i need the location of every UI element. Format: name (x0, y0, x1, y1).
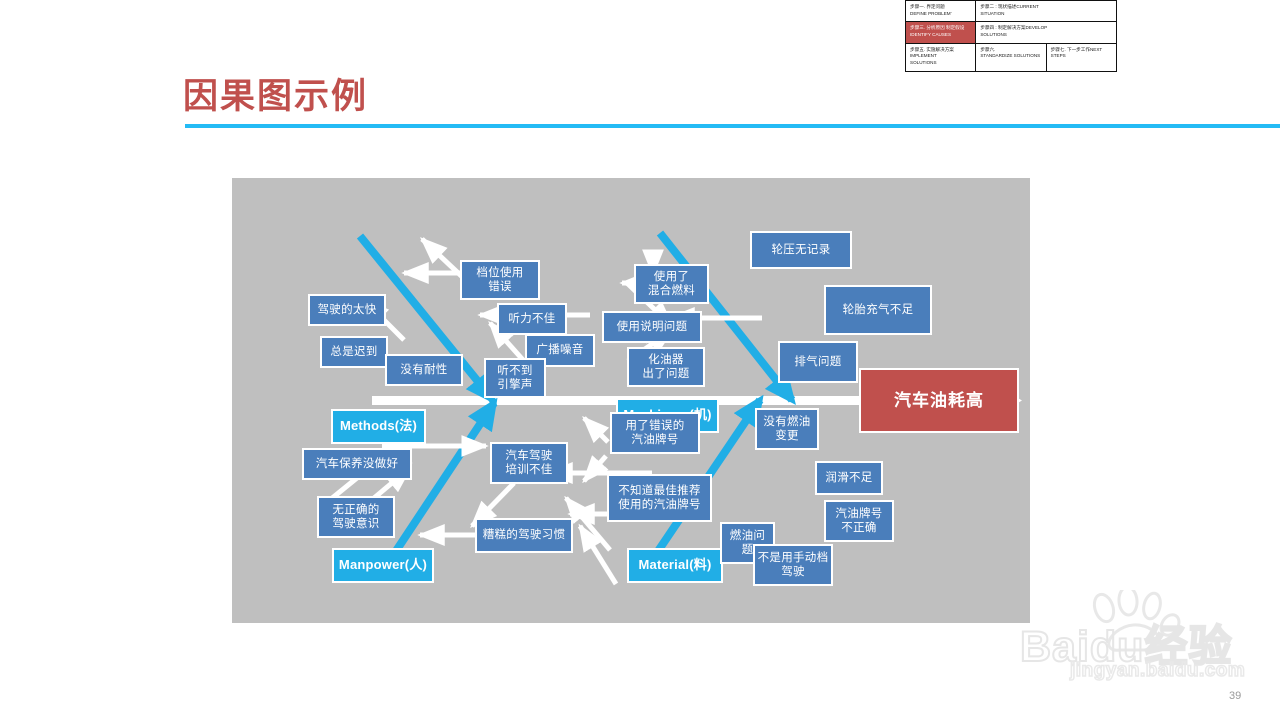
cause-manual-issue[interactable]: 使用说明问题 (602, 311, 702, 343)
cause-exhaust-issue[interactable]: 排气问题 (778, 341, 858, 383)
category-manpower[interactable]: Manpower(人) (332, 548, 434, 583)
step-cell-identify-causes[interactable]: 步骤三. 分析原因 制定假设 IDENTIFY CAUSES (906, 22, 976, 43)
step-cell-cn: 步骤三. 分析原因 制定假设 (910, 25, 972, 32)
step-cell-current-situation[interactable]: 步骤二 : 现状描述CURRENT SITUATION (976, 1, 1117, 22)
cause-mixed-fuel[interactable]: 使用了混合燃料 (634, 264, 709, 304)
step-cell-en: SITUATION (980, 11, 1113, 18)
cause-hearing-poor[interactable]: 听力不佳 (497, 303, 567, 335)
cause-tire-underinflated[interactable]: 轮胎充气不足 (824, 285, 932, 335)
fishbone-diagram-panel: Methods(法) Machinery(机) Manpower(人) Mate… (232, 178, 1030, 623)
cause-insufficient-lubrication[interactable]: 润滑不足 (815, 461, 883, 495)
title-divider (185, 124, 1280, 128)
category-material[interactable]: Material(料) (627, 548, 723, 583)
page-number: 39 (1229, 690, 1241, 702)
step-cell-define-problem[interactable]: 步骤一. 界定问题 DEFINE PROBLEM' (906, 1, 976, 22)
cause-no-tire-pressure-record[interactable]: 轮压无记录 (750, 231, 852, 269)
step-cell-en: SOLUTIONS (980, 32, 1113, 39)
cause-not-manual-transmission[interactable]: 不是用手动档驾驶 (753, 544, 833, 586)
cause-drive-too-fast[interactable]: 驾驶的太快 (308, 294, 386, 326)
cause-gear-misuse[interactable]: 档位使用错误 (460, 260, 540, 300)
category-methods[interactable]: Methods(法) (331, 409, 426, 444)
cause-bad-habits[interactable]: 糟糕的驾驶习惯 (475, 518, 573, 553)
watermark-url: jingyan.baidu.com (1070, 660, 1245, 682)
cause-poor-maintenance[interactable]: 汽车保养没做好 (302, 448, 412, 480)
cause-cannot-hear-engine[interactable]: 听不到引擎声 (484, 358, 546, 398)
step-cell-en: STEPS (1051, 53, 1113, 60)
cause-wrong-gasoline-grade[interactable]: 用了错误的汽油牌号 (610, 412, 700, 454)
table-row: 步骤三. 分析原因 制定假设 IDENTIFY CAUSES 步骤四 : 制定解… (906, 22, 1117, 43)
paw-icon (1086, 590, 1182, 652)
step-cell-en: DEFINE PROBLEM' (910, 11, 972, 18)
page-title: 因果图示例 (183, 68, 368, 119)
step-cell-cn: 步骤二 : 现状描述CURRENT (980, 4, 1113, 11)
step-cell-implement-solutions[interactable]: 步骤五. 实施解决方案IMPLEMENT SOLUTIONS (906, 43, 976, 71)
cause-no-fuel-change[interactable]: 没有燃油变更 (755, 408, 819, 450)
step-cell-cn: 步骤四 : 制定解决方案DEVELOP (980, 25, 1113, 32)
cause-no-patience[interactable]: 没有耐性 (385, 354, 463, 386)
watermark-brand: Baidu经验 (1020, 612, 1232, 674)
cause-incorrect-gasoline-grade[interactable]: 汽油牌号不正确 (824, 500, 894, 542)
step-cell-en: IDENTIFY CAUSES (910, 32, 972, 39)
step-cell-cn: 步骤七. 下一步工作NEXT (1051, 47, 1113, 54)
step-cell-develop-solutions[interactable]: 步骤四 : 制定解决方案DEVELOP SOLUTIONS (976, 22, 1117, 43)
step-cell-next-steps[interactable]: 步骤七. 下一步工作NEXT STEPS (1046, 43, 1116, 71)
step-cell-cn: 步骤五. 实施解决方案IMPLEMENT (910, 47, 972, 60)
table-row: 步骤五. 实施解决方案IMPLEMENT SOLUTIONS 步骤六. STAN… (906, 43, 1117, 71)
table-row: 步骤一. 界定问题 DEFINE PROBLEM' 步骤二 : 现状描述CURR… (906, 1, 1117, 22)
cause-carburetor-issue[interactable]: 化油器出了问题 (627, 347, 705, 387)
effect-box[interactable]: 汽车油耗高 (859, 368, 1019, 433)
steps-table-body: 步骤一. 界定问题 DEFINE PROBLEM' 步骤二 : 现状描述CURR… (906, 1, 1117, 72)
step-cell-cn: 步骤一. 界定问题 (910, 4, 972, 11)
cause-poor-training[interactable]: 汽车驾驶培训不佳 (490, 442, 568, 484)
step-cell-en: SOLUTIONS (910, 60, 972, 67)
cause-unknown-recommended-grade[interactable]: 不知道最佳推荐使用的汽油牌号 (607, 474, 712, 522)
baidu-watermark: Baidu经验 jingyan.baidu.com (1008, 592, 1258, 687)
steps-table: 步骤一. 界定问题 DEFINE PROBLEM' 步骤二 : 现状描述CURR… (905, 0, 1117, 72)
cause-no-correct-awareness[interactable]: 无正确的驾驶意识 (317, 496, 395, 538)
step-cell-standardize-solutions[interactable]: 步骤六. STANDARDIZE SOLUTIONS (976, 43, 1046, 71)
cause-always-late[interactable]: 总是迟到 (320, 336, 388, 368)
step-cell-cn: 步骤六. (980, 47, 1042, 54)
step-cell-en: STANDARDIZE SOLUTIONS (980, 53, 1042, 60)
